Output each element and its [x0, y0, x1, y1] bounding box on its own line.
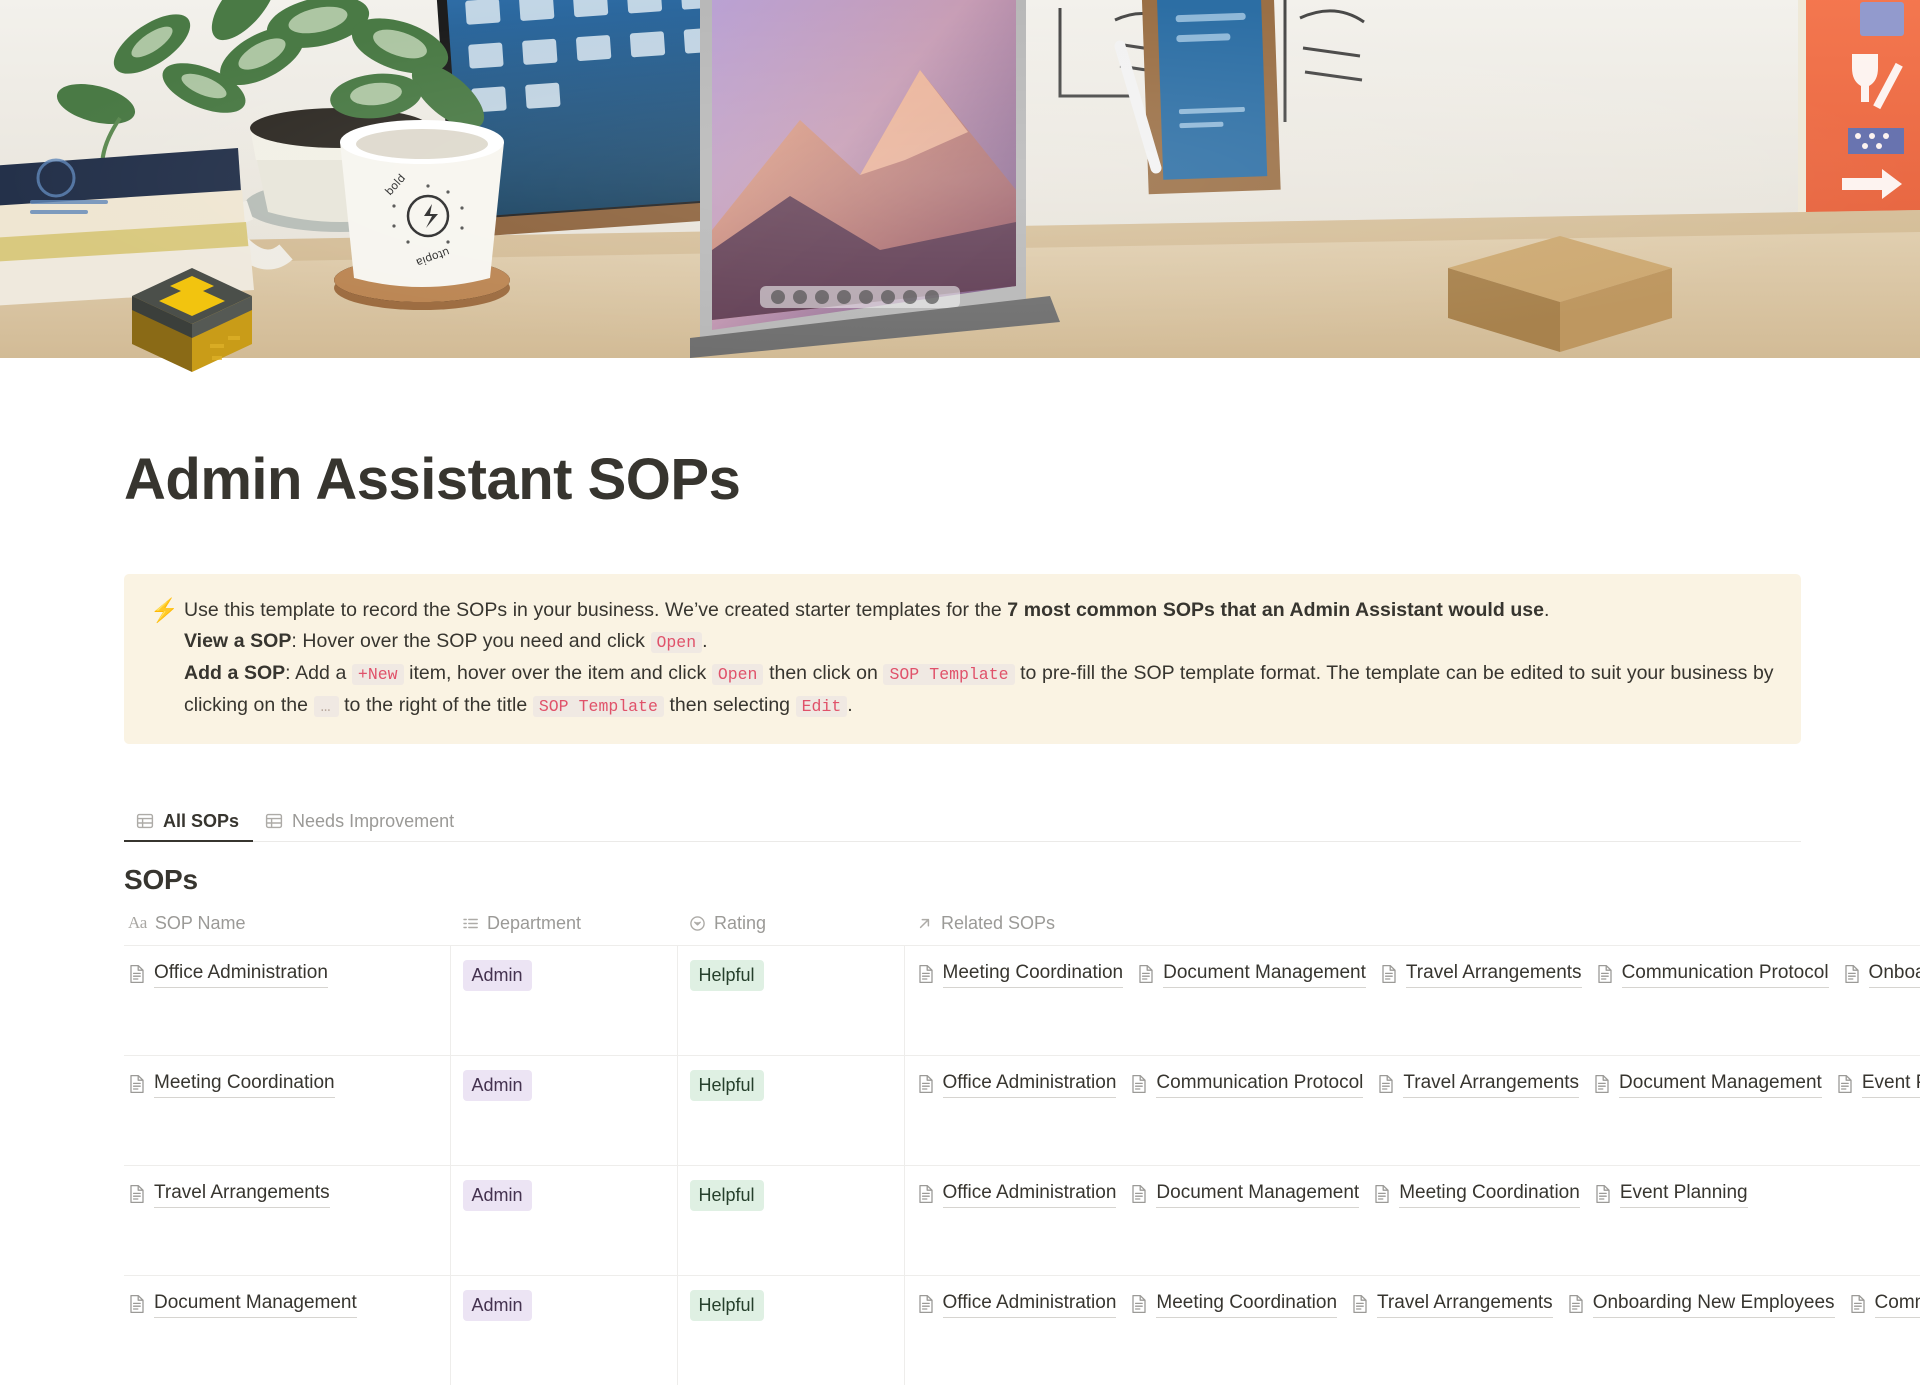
- document-icon: [128, 1074, 146, 1094]
- document-icon: [1380, 964, 1398, 984]
- page-link-label: Event Planning: [1862, 1070, 1920, 1098]
- related-sop-link[interactable]: Travel Arrangements: [1351, 1290, 1553, 1318]
- document-icon: [917, 1184, 935, 1204]
- page-link-label: Document Management: [154, 1290, 357, 1318]
- callout-line3-e: to the right of the title: [339, 694, 533, 716]
- rating-tag: Helpful: [690, 1290, 764, 1321]
- sop-name-link[interactable]: Travel Arrangements: [128, 1180, 330, 1208]
- document-icon: [1130, 1184, 1148, 1204]
- sop-name-link[interactable]: Office Administration: [128, 960, 328, 988]
- callout-line2-bold: View a SOP: [184, 630, 291, 652]
- callout-block: ⚡ Use this template to record the SOPs i…: [124, 574, 1801, 744]
- page-icon[interactable]: [124, 252, 260, 388]
- document-icon: [1596, 964, 1614, 984]
- cell-sop-name[interactable]: Meeting Coordination: [124, 1055, 450, 1165]
- tab-all-sops-label: All SOPs: [163, 812, 239, 830]
- cell-department[interactable]: Admin: [450, 1165, 677, 1275]
- chip-new[interactable]: +New: [352, 664, 404, 685]
- related-sop-link[interactable]: Communication Protocol: [1130, 1070, 1363, 1098]
- department-tag: Admin: [463, 1070, 532, 1101]
- related-sop-link[interactable]: Office Administration: [917, 1290, 1117, 1318]
- rating-tag: Helpful: [690, 1070, 764, 1101]
- column-header-rating-label: Rating: [714, 913, 766, 934]
- table-body: Office AdministrationAdminHelpfulMeeting…: [124, 945, 1920, 1385]
- relation-arrow-icon: [916, 915, 933, 932]
- document-icon: [1137, 964, 1155, 984]
- table-icon: [265, 812, 283, 830]
- sop-name-link[interactable]: Document Management: [128, 1290, 357, 1318]
- callout-line3-a: : Add a: [285, 662, 352, 684]
- related-sop-link[interactable]: Travel Arrangements: [1380, 960, 1582, 988]
- column-header-related-sops-label: Related SOPs: [941, 913, 1055, 934]
- page-link-label: Onboarding New Employees: [1869, 960, 1920, 988]
- cell-related-sops[interactable]: Meeting CoordinationDocument ManagementT…: [904, 945, 1920, 1055]
- lightning-bolt-icon: ⚡: [150, 595, 184, 626]
- cell-related-sops[interactable]: Office AdministrationCommunication Proto…: [904, 1055, 1920, 1165]
- callout-line1-a: Use this template to record the SOPs in …: [184, 599, 1007, 621]
- table-icon: [136, 812, 154, 830]
- column-header-department[interactable]: Department: [450, 913, 677, 946]
- cell-related-sops[interactable]: Office AdministrationMeeting Coordinatio…: [904, 1275, 1920, 1385]
- related-sop-link[interactable]: Travel Arrangements: [1377, 1070, 1579, 1098]
- callout-line3-g: .: [847, 694, 852, 716]
- page-link-label: Onboarding New Employees: [1593, 1290, 1835, 1318]
- related-sop-link[interactable]: Event Planning: [1836, 1070, 1920, 1098]
- page-cover-image: bold utopia: [0, 0, 1920, 358]
- related-sop-link[interactable]: Office Administration: [917, 1180, 1117, 1208]
- page-link-label: Meeting Coordination: [1156, 1290, 1337, 1318]
- page-link-label: Meeting Coordination: [154, 1070, 335, 1098]
- multi-select-icon: [462, 915, 479, 932]
- document-icon: [128, 1294, 146, 1314]
- tab-needs-improvement-label: Needs Improvement: [292, 812, 454, 830]
- related-sop-link[interactable]: Onboarding New Employees: [1567, 1290, 1835, 1318]
- cell-rating[interactable]: Helpful: [677, 945, 904, 1055]
- cell-rating[interactable]: Helpful: [677, 1165, 904, 1275]
- department-tag: Admin: [463, 1180, 532, 1211]
- sops-table: Aa SOP Name Department: [124, 913, 1920, 1385]
- select-icon: [689, 915, 706, 932]
- document-icon: [917, 964, 935, 984]
- page-link-label: Communication Protocol: [1156, 1070, 1363, 1098]
- page-link-label: Communication Protocol: [1875, 1290, 1920, 1318]
- page-link-label: Document Management: [1163, 960, 1366, 988]
- column-header-department-label: Department: [487, 913, 581, 934]
- callout-line3-f: then selecting: [664, 694, 796, 716]
- related-sop-link[interactable]: Meeting Coordination: [1130, 1290, 1337, 1318]
- cell-sop-name[interactable]: Office Administration: [124, 945, 450, 1055]
- column-header-sop-name-label: SOP Name: [155, 913, 246, 934]
- related-sop-link[interactable]: Communication Protocol: [1849, 1290, 1920, 1318]
- department-tag: Admin: [463, 960, 532, 991]
- callout-line3-bold: Add a SOP: [184, 662, 285, 684]
- chip-ellipsis[interactable]: …: [314, 696, 339, 717]
- document-icon: [1593, 1074, 1611, 1094]
- related-sop-link[interactable]: Document Management: [1130, 1180, 1359, 1208]
- table-row[interactable]: Document ManagementAdminHelpfulOffice Ad…: [124, 1275, 1920, 1385]
- column-header-sop-name[interactable]: Aa SOP Name: [124, 913, 450, 946]
- rating-tag: Helpful: [690, 960, 764, 991]
- page-link-label: Travel Arrangements: [154, 1180, 330, 1208]
- document-icon: [1849, 1294, 1867, 1314]
- callout-text: Use this template to record the SOPs in …: [184, 595, 1775, 722]
- column-header-related-sops[interactable]: Related SOPs: [904, 913, 1920, 946]
- related-sop-link[interactable]: Meeting Coordination: [1373, 1180, 1580, 1208]
- chip-open-1[interactable]: Open: [651, 632, 703, 653]
- related-sop-link[interactable]: Onboarding New Employees: [1843, 960, 1920, 988]
- page-content: Admin Assistant SOPs ⚡ Use this template…: [0, 448, 1920, 1385]
- page-link-label: Travel Arrangements: [1403, 1070, 1579, 1098]
- document-icon: [917, 1294, 935, 1314]
- page-link-label: Communication Protocol: [1622, 960, 1829, 988]
- database-view-tabs: All SOPs Needs Improvement: [124, 800, 1801, 842]
- table-header-row: Aa SOP Name Department: [124, 913, 1920, 946]
- tab-all-sops[interactable]: All SOPs: [124, 812, 253, 841]
- rating-tag: Helpful: [690, 1180, 764, 1211]
- chip-sop-template-1[interactable]: SOP Template: [883, 664, 1014, 685]
- related-sop-link[interactable]: Meeting Coordination: [917, 960, 1124, 988]
- page-link-label: Office Administration: [943, 1290, 1117, 1318]
- document-icon: [1594, 1184, 1612, 1204]
- page-link-label: Office Administration: [154, 960, 328, 988]
- callout-line2-a: : Hover over the SOP you need and click: [291, 630, 650, 652]
- table-row[interactable]: Travel ArrangementsAdminHelpfulOffice Ad…: [124, 1165, 1920, 1275]
- callout-line3-b: item, hover over the item and click: [404, 662, 712, 684]
- callout-line2-b: .: [702, 630, 707, 652]
- table-row[interactable]: Meeting CoordinationAdminHelpfulOffice A…: [124, 1055, 1920, 1165]
- page-link-label: Office Administration: [943, 1180, 1117, 1208]
- cell-department[interactable]: Admin: [450, 1275, 677, 1385]
- cell-sop-name[interactable]: Travel Arrangements: [124, 1165, 450, 1275]
- page-link-label: Document Management: [1156, 1180, 1359, 1208]
- database-title[interactable]: SOPs: [124, 864, 1920, 896]
- chip-open-2[interactable]: Open: [712, 664, 764, 685]
- page-link-label: Meeting Coordination: [943, 960, 1124, 988]
- related-sop-link[interactable]: Communication Protocol: [1596, 960, 1829, 988]
- page-link-label: Travel Arrangements: [1406, 960, 1582, 988]
- cell-rating[interactable]: Helpful: [677, 1055, 904, 1165]
- table-row[interactable]: Office AdministrationAdminHelpfulMeeting…: [124, 945, 1920, 1055]
- callout-line3-c: then click on: [763, 662, 883, 684]
- document-icon: [1377, 1074, 1395, 1094]
- page-title: Admin Assistant SOPs: [124, 448, 1920, 512]
- document-icon: [1373, 1184, 1391, 1204]
- document-icon: [1130, 1294, 1148, 1314]
- related-sop-link[interactable]: Document Management: [1593, 1070, 1822, 1098]
- page-link-label: Office Administration: [943, 1070, 1117, 1098]
- document-icon: [128, 964, 146, 984]
- page-link-label: Document Management: [1619, 1070, 1822, 1098]
- cell-department[interactable]: Admin: [450, 1055, 677, 1165]
- chip-sop-template-2[interactable]: SOP Template: [533, 696, 664, 717]
- callout-line1-bold: 7 most common SOPs that an Admin Assista…: [1007, 599, 1544, 621]
- department-tag: Admin: [463, 1290, 532, 1321]
- document-icon: [1843, 964, 1861, 984]
- related-sop-link[interactable]: Document Management: [1137, 960, 1366, 988]
- chip-edit[interactable]: Edit: [796, 696, 848, 717]
- document-icon: [128, 1184, 146, 1204]
- page-link-label: Meeting Coordination: [1399, 1180, 1580, 1208]
- sop-name-link[interactable]: Meeting Coordination: [128, 1070, 335, 1098]
- column-header-rating[interactable]: Rating: [677, 913, 904, 946]
- cell-related-sops[interactable]: Office AdministrationDocument Management…: [904, 1165, 1920, 1275]
- document-icon: [1567, 1294, 1585, 1314]
- document-icon: [1836, 1074, 1854, 1094]
- cell-sop-name[interactable]: Document Management: [124, 1275, 450, 1385]
- cell-rating[interactable]: Helpful: [677, 1275, 904, 1385]
- callout-line1-b: .: [1544, 599, 1549, 621]
- document-icon: [1130, 1074, 1148, 1094]
- cell-department[interactable]: Admin: [450, 945, 677, 1055]
- document-icon: [917, 1074, 935, 1094]
- document-icon: [1351, 1294, 1369, 1314]
- related-sop-link[interactable]: Office Administration: [917, 1070, 1117, 1098]
- tab-needs-improvement[interactable]: Needs Improvement: [253, 812, 468, 841]
- page-link-label: Travel Arrangements: [1377, 1290, 1553, 1318]
- related-sop-link[interactable]: Event Planning: [1594, 1180, 1748, 1208]
- text-aa-icon: Aa: [128, 913, 147, 933]
- page-link-label: Event Planning: [1620, 1180, 1748, 1208]
